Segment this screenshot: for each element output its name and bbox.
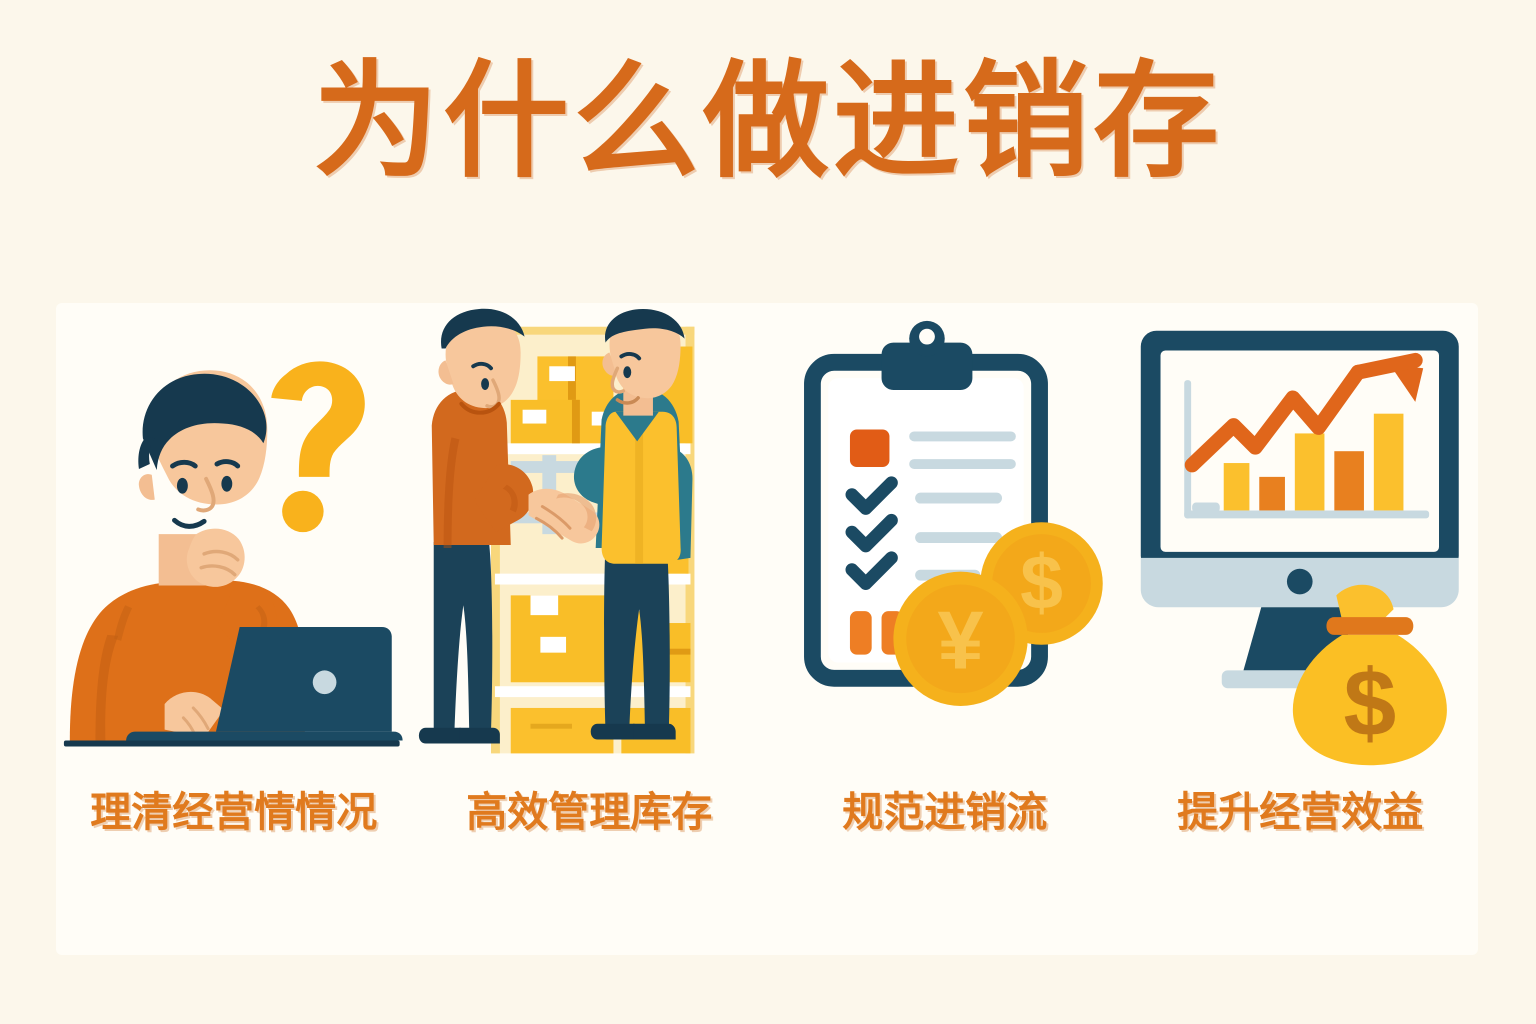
column-clarify-operations[interactable]: 理清经营情情况 [56, 303, 412, 955]
illustration-thinking-man [56, 303, 412, 783]
desk-line [64, 741, 400, 747]
content-card: 理清经营情情况 [56, 303, 1478, 955]
orange-bar-marker [850, 611, 872, 654]
column-improve-efficiency[interactable]: $ 提升经营效益 [1123, 303, 1479, 955]
illustration-monitor-chart: $ [1123, 303, 1479, 783]
chart-bar-4 [1334, 451, 1364, 510]
infographic-poster: 为什么做进销存 [0, 0, 1536, 1024]
money-bag-symbol: $ [1343, 651, 1396, 757]
money-bag-tie [1326, 617, 1413, 635]
monitor-power-dot [1286, 569, 1312, 595]
laptop-logo [313, 670, 337, 694]
laptop-base [126, 732, 403, 741]
illustration-warehouse-handshake [412, 303, 768, 783]
caption-manage-inventory: 高效管理库存 [419, 785, 759, 840]
page-title-wrap: 为什么做进销存 [0, 56, 1536, 188]
illustration-clipboard-coins: $ ¥ [767, 303, 1123, 783]
chart-bar-2 [1259, 477, 1285, 511]
chart-bar-1 [1223, 463, 1249, 510]
chart-x-axis [1184, 510, 1429, 518]
orange-square-marker [850, 429, 890, 467]
dollar-coin-symbol: $ [1020, 540, 1063, 626]
page-title: 为什么做进销存 [313, 56, 1223, 188]
yuan-coin-symbol: ¥ [937, 593, 983, 686]
chart-bar-3 [1294, 433, 1324, 510]
caption-clarify-operations: 理清经营情情况 [89, 785, 379, 840]
column-list: 理清经营情情况 [56, 303, 1478, 955]
caption-improve-efficiency: 提升经营效益 [1130, 785, 1470, 840]
yuan-coin-icon: ¥ [893, 572, 1027, 706]
question-mark-icon [271, 361, 365, 532]
column-standardize-flow[interactable]: $ ¥ 规范进销流 [767, 303, 1123, 955]
question-mark-dot [282, 491, 323, 532]
chart-y-axis [1184, 380, 1191, 518]
chart-bar-5 [1373, 414, 1403, 511]
caption-standardize-flow: 规范进销流 [795, 785, 1095, 840]
column-manage-inventory[interactable]: 高效管理库存 [412, 303, 768, 955]
